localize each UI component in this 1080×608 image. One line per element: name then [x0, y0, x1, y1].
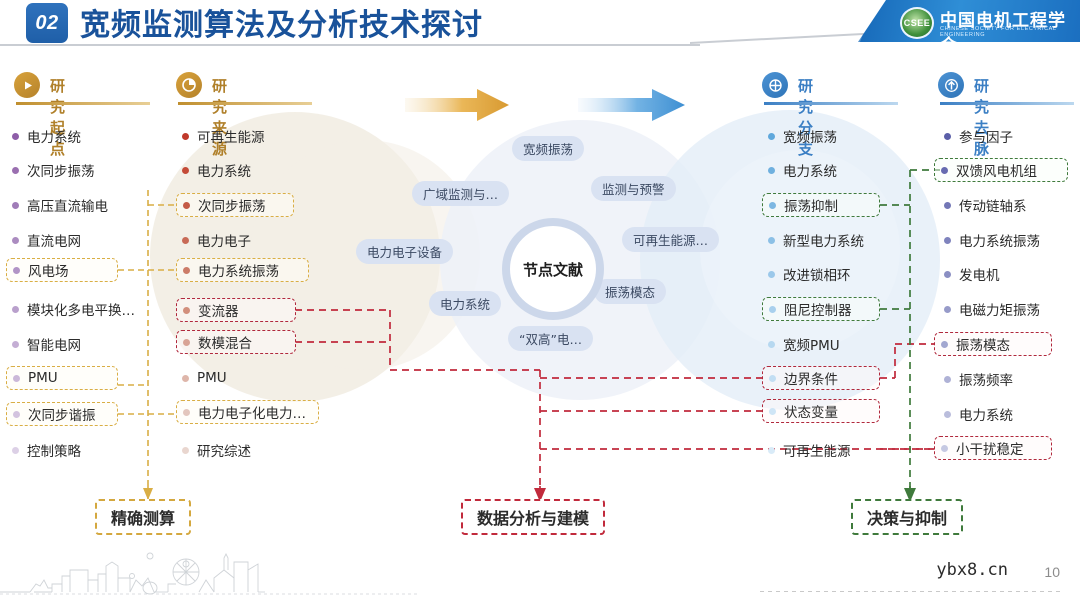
list-item-highlighted[interactable]: 小干扰稳定 — [934, 436, 1052, 460]
list-item-label: 研究综述 — [197, 440, 251, 460]
slide-canvas: 02 宽频监测算法及分析技术探讨 CSEE 中国电机工程学会 CHINESE S… — [0, 0, 1080, 608]
list-item[interactable]: 新型电力系统 — [762, 228, 872, 252]
list-item-label: 变流器 — [198, 300, 239, 320]
page-number: 10 — [1044, 564, 1060, 580]
list-item-label: 风电场 — [28, 260, 69, 280]
list-item-label: 电力系统振荡 — [198, 260, 279, 280]
list-item-label: 可再生能源 — [197, 126, 265, 146]
bullet-dot — [182, 375, 189, 382]
list-item[interactable]: 可再生能源 — [176, 124, 273, 148]
list-item-label: 振荡频率 — [959, 369, 1013, 389]
bullet-dot — [768, 271, 775, 278]
bullet-dot — [183, 409, 190, 416]
list-item-highlighted[interactable]: 电力电子化电力… — [176, 400, 319, 424]
list-item[interactable]: 电磁力矩振荡 — [938, 297, 1048, 321]
bullet-dot — [12, 237, 19, 244]
list-item-label: PMU — [197, 370, 227, 386]
list-item[interactable]: 发电机 — [938, 262, 1008, 286]
list-item[interactable]: 传动链轴系 — [938, 193, 1035, 217]
list-item-label: 次同步振荡 — [27, 160, 95, 180]
list-item-label: 电力系统 — [783, 160, 837, 180]
list-item-label: 振荡抑制 — [784, 195, 838, 215]
site-watermark: ybx8.cn — [936, 560, 1008, 580]
list-item[interactable]: 次同步振荡 — [6, 158, 103, 182]
list-item-label: 电力电子化电力… — [198, 402, 306, 422]
organization-name-en: CHINESE SOCIETY FOR ELECTRICAL ENGINEERI… — [940, 26, 1080, 38]
column-underline — [16, 102, 150, 105]
bullet-dot — [944, 133, 951, 140]
list-item[interactable]: 电力系统 — [938, 402, 1021, 426]
list-item-highlighted[interactable]: 变流器 — [176, 298, 296, 322]
list-item-label: 小干扰稳定 — [956, 438, 1024, 458]
bullet-dot — [944, 411, 951, 418]
list-item-label: 电力电子 — [197, 230, 251, 250]
bullet-dot — [769, 408, 776, 415]
list-item-label: 新型电力系统 — [783, 230, 864, 250]
bullet-dot — [941, 341, 948, 348]
list-item-label: 控制策略 — [27, 440, 81, 460]
bullet-dot — [768, 341, 775, 348]
bullet-dot — [769, 306, 776, 313]
column-underline — [178, 102, 312, 105]
list-item-label: 宽频振荡 — [783, 126, 837, 146]
bullet-dot — [182, 167, 189, 174]
bullet-dot — [768, 237, 775, 244]
list-item-label: 次同步振荡 — [198, 195, 266, 215]
list-item-label: 电力系统振荡 — [959, 230, 1040, 250]
list-item-label: 模块化多电平换… — [27, 299, 135, 319]
list-item-highlighted[interactable]: PMU — [6, 366, 118, 390]
hub-node: 节点文献 — [502, 218, 604, 320]
list-item-label: 状态变量 — [784, 401, 838, 421]
column-underline — [940, 102, 1074, 105]
list-item[interactable]: 电力系统振荡 — [938, 228, 1048, 252]
list-item-label: 阻尼控制器 — [784, 299, 852, 319]
bullet-dot — [182, 133, 189, 140]
list-item[interactable]: 改进锁相环 — [762, 262, 859, 286]
list-item-highlighted[interactable]: 数模混合 — [176, 330, 296, 354]
list-item-label: 电力系统 — [959, 404, 1013, 424]
list-item-label: 电力系统 — [27, 126, 81, 146]
list-item-highlighted[interactable]: 次同步谐振 — [6, 402, 118, 426]
list-item-label: 高压直流输电 — [27, 195, 108, 215]
bullet-dot — [183, 307, 190, 314]
bullet-dot — [183, 339, 190, 346]
bullet-dot — [12, 341, 19, 348]
list-item-label: 发电机 — [959, 264, 1000, 284]
list-item-highlighted[interactable]: 状态变量 — [762, 399, 880, 423]
bullet-dot — [768, 133, 775, 140]
list-item-highlighted[interactable]: 风电场 — [6, 258, 118, 282]
list-item-highlighted[interactable]: 阻尼控制器 — [762, 297, 880, 321]
list-item-highlighted[interactable]: 电力系统振荡 — [176, 258, 309, 282]
slide-header: 02 宽频监测算法及分析技术探讨 CSEE 中国电机工程学会 CHINESE S… — [0, 0, 1080, 52]
result-juece-yizhi[interactable]: 决策与抑制 — [851, 499, 963, 535]
bullet-dot — [12, 447, 19, 454]
list-item[interactable]: 可再生能源 — [762, 438, 859, 462]
list-item-label: 可再生能源 — [783, 440, 851, 460]
pill-dianli-dianzi-shebei[interactable]: 电力电子设备 — [356, 239, 453, 264]
bullet-dot — [944, 306, 951, 313]
pill-kezaisheng-nengyuan[interactable]: 可再生能源… — [622, 227, 719, 252]
bullet-dot — [944, 376, 951, 383]
list-item-label: 数模混合 — [198, 332, 252, 352]
bullet-dot — [769, 375, 776, 382]
section-number-badge: 02 — [26, 3, 68, 43]
up-arrow-circle-icon — [938, 72, 964, 98]
play-circle-icon — [14, 72, 40, 98]
pie-chart-icon — [176, 72, 202, 98]
bullet-dot — [12, 306, 19, 313]
bullet-dot — [941, 445, 948, 452]
bullet-dot — [944, 237, 951, 244]
list-item[interactable]: 振荡频率 — [938, 367, 1021, 391]
list-item-label: 双馈风电机组 — [956, 160, 1037, 180]
result-shuju-fenxi-jianmo[interactable]: 数据分析与建模 — [461, 499, 605, 535]
list-item[interactable]: 智能电网 — [6, 332, 89, 356]
bullet-dot — [13, 267, 20, 274]
list-item[interactable]: 控制策略 — [6, 438, 89, 462]
bullet-dot — [769, 202, 776, 209]
bullet-dot — [944, 271, 951, 278]
csee-seal-icon: CSEE — [900, 7, 934, 39]
list-item-label: 次同步谐振 — [28, 404, 96, 424]
list-item[interactable]: 电力电子 — [176, 228, 259, 252]
column-underline — [764, 102, 898, 105]
list-item[interactable]: 电力系统 — [176, 158, 259, 182]
pill-dianli-xitong[interactable]: 电力系统 — [429, 291, 501, 316]
list-item-label: 参与因子 — [959, 126, 1013, 146]
list-item-label: 传动链轴系 — [959, 195, 1027, 215]
bullet-dot — [768, 447, 775, 454]
list-item[interactable]: PMU — [176, 366, 235, 390]
bullet-dot — [12, 133, 19, 140]
pill-guangyu-jiance[interactable]: 广域监测与… — [412, 181, 509, 206]
list-item[interactable]: 高压直流输电 — [6, 193, 116, 217]
list-item-highlighted[interactable]: 次同步振荡 — [176, 193, 294, 217]
bullet-dot — [182, 447, 189, 454]
list-item-highlighted[interactable]: 振荡抑制 — [762, 193, 880, 217]
list-item[interactable]: 研究综述 — [176, 438, 259, 462]
list-item-label: 智能电网 — [27, 334, 81, 354]
pill-shuanggao-dian[interactable]: “双高”电… — [508, 326, 593, 351]
organization-logo-band: CSEE 中国电机工程学会 CHINESE SOCIETY FOR ELECTR… — [858, 0, 1080, 42]
bullet-dot — [12, 167, 19, 174]
list-item[interactable]: 直流电网 — [6, 228, 89, 252]
list-item-highlighted[interactable]: 边界条件 — [762, 366, 880, 390]
bullet-dot — [13, 375, 20, 382]
list-item[interactable]: 电力系统 — [6, 124, 89, 148]
list-item[interactable]: 宽频振荡 — [762, 124, 845, 148]
list-item[interactable]: 模块化多电平换… — [6, 297, 143, 321]
bullet-dot — [12, 202, 19, 209]
list-item[interactable]: 电力系统 — [762, 158, 845, 182]
pill-kuanpin-zhendang[interactable]: 宽频振荡 — [512, 136, 584, 161]
page-title: 宽频监测算法及分析技术探讨 — [80, 0, 483, 45]
list-item-highlighted[interactable]: 双馈风电机组 — [934, 158, 1068, 182]
pill-jiance-yujing[interactable]: 监测与预警 — [591, 176, 676, 201]
list-item-label: 电磁力矩振荡 — [959, 299, 1040, 319]
bullet-dot — [941, 167, 948, 174]
list-item-label: 直流电网 — [27, 230, 81, 250]
header-divider-slant — [690, 33, 870, 44]
list-item-label: 宽频PMU — [783, 334, 840, 354]
result-jingque-cesuan[interactable]: 精确测算 — [95, 499, 191, 535]
bullet-dot — [768, 167, 775, 174]
list-item-label: PMU — [28, 370, 58, 386]
bullet-dot — [13, 411, 20, 418]
list-item-label: 边界条件 — [784, 368, 838, 388]
list-item-label: 振荡模态 — [956, 334, 1010, 354]
list-item-highlighted[interactable]: 振荡模态 — [934, 332, 1052, 356]
bullet-dot — [183, 267, 190, 274]
list-item[interactable]: 参与因子 — [938, 124, 1021, 148]
list-item-label: 电力系统 — [197, 160, 251, 180]
bullet-dot — [182, 237, 189, 244]
list-item-label: 改进锁相环 — [783, 264, 851, 284]
pill-zhendang-motai[interactable]: 振荡模态 — [594, 279, 666, 304]
target-circle-icon — [762, 72, 788, 98]
bullet-dot — [944, 202, 951, 209]
bullet-dot — [183, 202, 190, 209]
list-item[interactable]: 宽频PMU — [762, 332, 848, 356]
